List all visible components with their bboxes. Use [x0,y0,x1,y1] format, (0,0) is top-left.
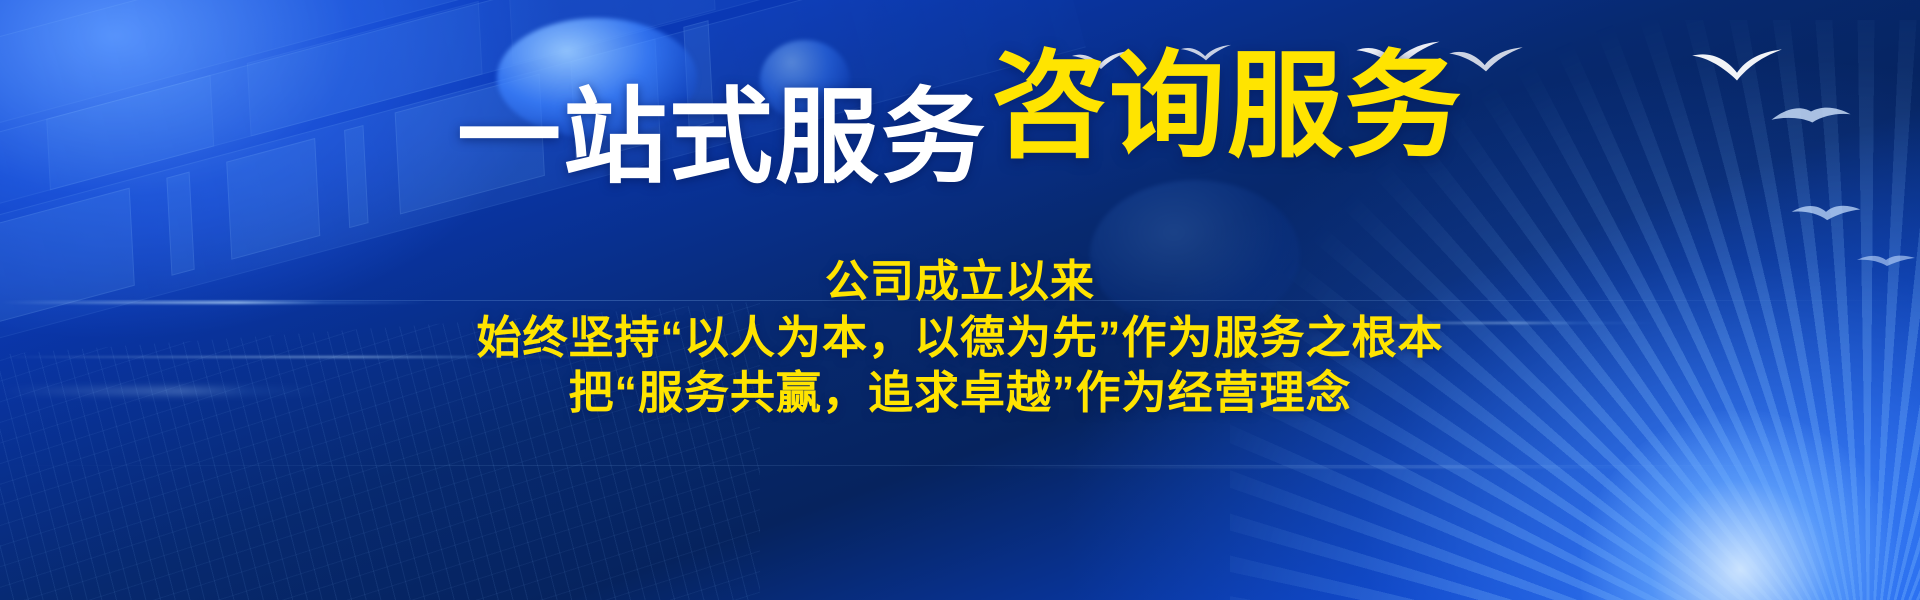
promo-banner: 一站式服务 咨询服务 公司成立以来 始终坚持“以人为本，以德为先”作为服务之根本… [0,0,1920,600]
headline-primary-text: 一站式服务 [457,86,987,190]
body-line-2: 始终坚持“以人为本，以德为先”作为服务之根本 [0,310,1920,366]
horizon-line-lower [0,465,1920,466]
headline: 一站式服务 咨询服务 [0,74,1920,190]
light-streak-shape [960,466,1820,468]
body-line-3: 把“服务共赢，追求卓越”作为经营理念 [0,365,1920,421]
body-copy: 公司成立以来 始终坚持“以人为本，以德为先”作为服务之根本 把“服务共赢，追求卓… [0,255,1920,421]
headline-accent-text: 咨询服务 [991,48,1463,164]
body-line-1: 公司成立以来 [0,255,1920,310]
seagull-icon [1790,200,1862,226]
sunburst-core-glow [1580,410,1900,600]
